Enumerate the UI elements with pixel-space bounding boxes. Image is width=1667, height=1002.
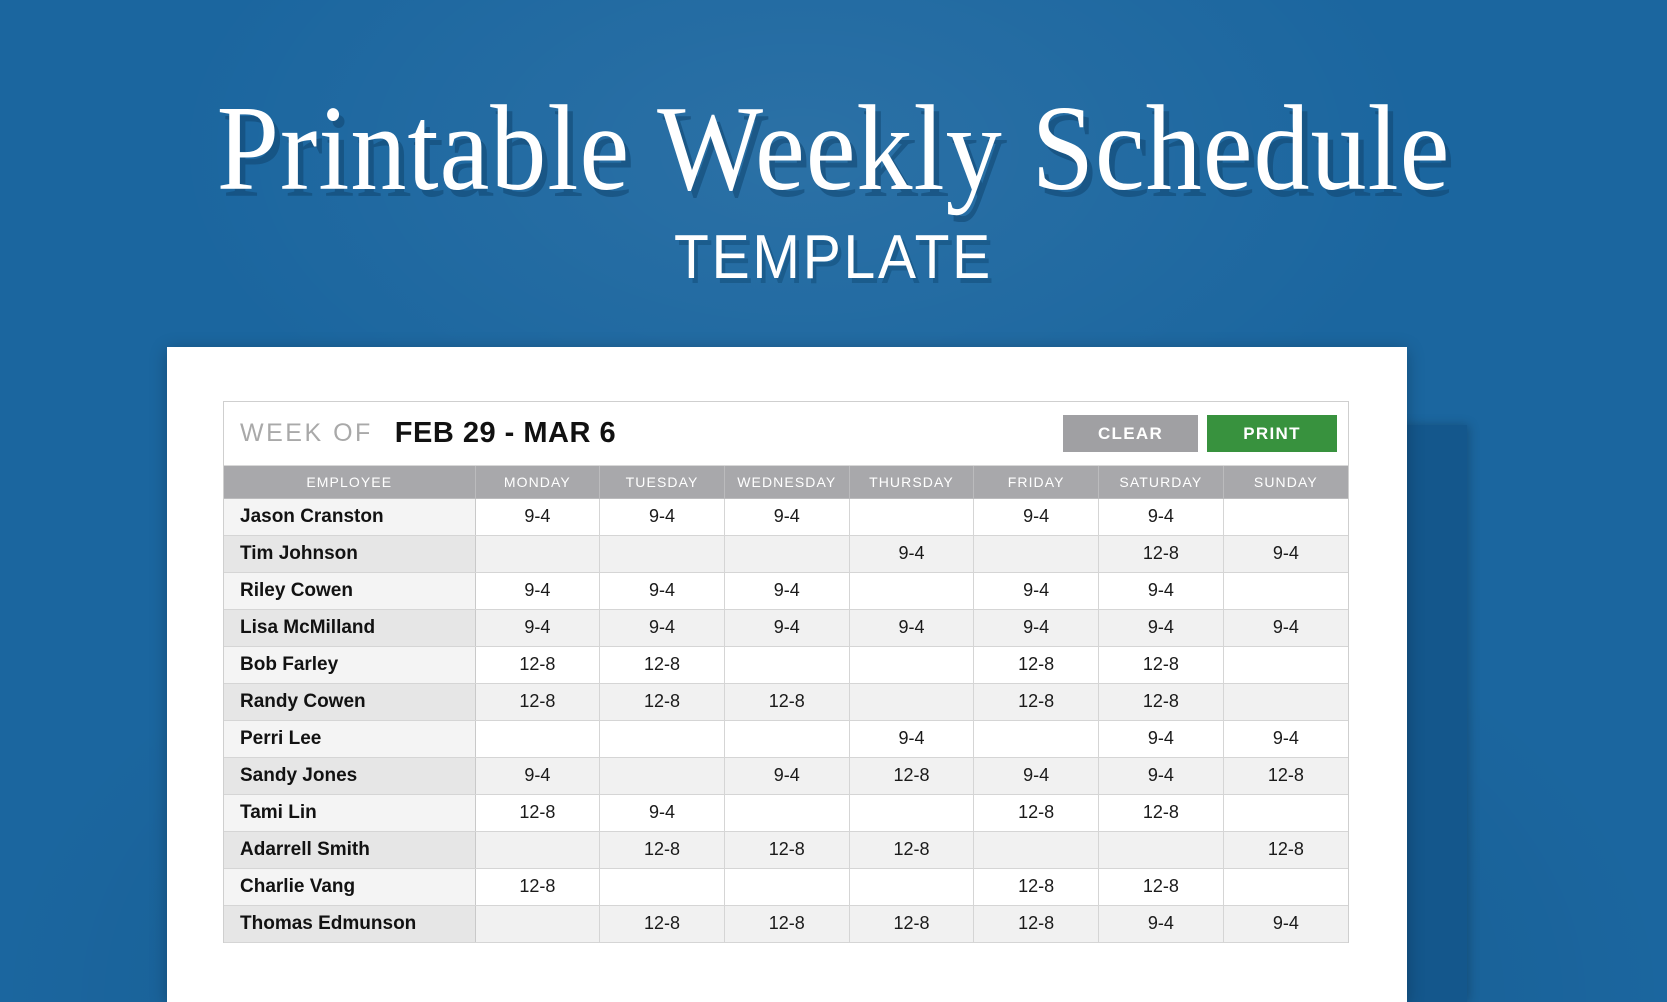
- employee-name-cell[interactable]: Tami Lin: [224, 794, 475, 831]
- shift-cell[interactable]: 9-4: [724, 757, 849, 794]
- shift-cell[interactable]: 9-4: [1223, 535, 1348, 572]
- shift-cell[interactable]: 9-4: [600, 572, 725, 609]
- shift-cell[interactable]: 12-8: [974, 905, 1099, 942]
- column-header-monday: MONDAY: [475, 466, 600, 498]
- shift-cell[interactable]: 12-8: [600, 905, 725, 942]
- employee-name-cell[interactable]: Randy Cowen: [224, 683, 475, 720]
- shift-cell[interactable]: 12-8: [724, 683, 849, 720]
- shift-cell[interactable]: [974, 831, 1099, 868]
- shift-cell[interactable]: 9-4: [1223, 720, 1348, 757]
- table-row: Thomas Edmunson12-812-812-812-89-49-4: [224, 905, 1348, 942]
- shift-cell[interactable]: [849, 646, 974, 683]
- table-row: Perri Lee9-49-49-4: [224, 720, 1348, 757]
- column-header-tuesday: TUESDAY: [600, 466, 725, 498]
- shift-cell[interactable]: 12-8: [974, 683, 1099, 720]
- shift-cell[interactable]: 9-4: [1099, 720, 1224, 757]
- shift-cell[interactable]: 12-8: [1099, 794, 1224, 831]
- shift-cell[interactable]: [475, 831, 600, 868]
- table-head: EMPLOYEEMONDAYTUESDAYWEDNESDAYTHURSDAYFR…: [224, 466, 1348, 498]
- shift-cell[interactable]: 12-8: [849, 905, 974, 942]
- column-header-friday: FRIDAY: [974, 466, 1099, 498]
- shift-cell[interactable]: [724, 535, 849, 572]
- employee-name-cell[interactable]: Adarrell Smith: [224, 831, 475, 868]
- shift-cell[interactable]: 9-4: [724, 572, 849, 609]
- shift-cell[interactable]: 9-4: [724, 609, 849, 646]
- employee-name-cell[interactable]: Charlie Vang: [224, 868, 475, 905]
- week-of-label: WEEK OF: [240, 419, 373, 448]
- column-header-sunday: SUNDAY: [1223, 466, 1348, 498]
- shift-cell[interactable]: 9-4: [974, 609, 1099, 646]
- shift-cell[interactable]: [849, 683, 974, 720]
- shift-cell[interactable]: 9-4: [1099, 609, 1224, 646]
- shift-cell[interactable]: 9-4: [1099, 905, 1224, 942]
- back-page-shadow-slab: [1397, 425, 1467, 1002]
- shift-cell[interactable]: [600, 720, 725, 757]
- table-row: Sandy Jones9-49-412-89-49-412-8: [224, 757, 1348, 794]
- shift-cell[interactable]: [475, 720, 600, 757]
- table-row: Bob Farley12-812-812-812-8: [224, 646, 1348, 683]
- shift-cell[interactable]: [974, 720, 1099, 757]
- shift-cell[interactable]: 9-4: [600, 498, 725, 535]
- column-header-thursday: THURSDAY: [849, 466, 974, 498]
- shift-cell[interactable]: 12-8: [1223, 831, 1348, 868]
- page-title: Printable Weekly Schedule: [67, 0, 1601, 210]
- shift-cell[interactable]: [1099, 831, 1224, 868]
- shift-cell[interactable]: 9-4: [475, 572, 600, 609]
- employee-name-cell[interactable]: Tim Johnson: [224, 535, 475, 572]
- employee-name-cell[interactable]: Riley Cowen: [224, 572, 475, 609]
- shift-cell[interactable]: [600, 868, 725, 905]
- print-button[interactable]: PRINT: [1207, 415, 1337, 452]
- shift-cell[interactable]: 9-4: [1223, 609, 1348, 646]
- employee-name-cell[interactable]: Thomas Edmunson: [224, 905, 475, 942]
- shift-cell[interactable]: 12-8: [1223, 757, 1348, 794]
- shift-cell[interactable]: 9-4: [600, 609, 725, 646]
- employee-name-cell[interactable]: Sandy Jones: [224, 757, 475, 794]
- paper-card: WEEK OF FEB 29 - MAR 6 CLEAR PRINT EMPLO…: [167, 347, 1407, 1002]
- employee-name-cell[interactable]: Bob Farley: [224, 646, 475, 683]
- table-row: Adarrell Smith12-812-812-812-8: [224, 831, 1348, 868]
- shift-cell[interactable]: 9-4: [849, 535, 974, 572]
- shift-cell[interactable]: 12-8: [974, 794, 1099, 831]
- table-row: Tim Johnson9-412-89-4: [224, 535, 1348, 572]
- shift-cell[interactable]: 9-4: [1099, 757, 1224, 794]
- table-row: Lisa McMilland9-49-49-49-49-49-49-4: [224, 609, 1348, 646]
- shift-cell[interactable]: [475, 535, 600, 572]
- shift-cell[interactable]: [1223, 572, 1348, 609]
- table-body: Jason Cranston9-49-49-49-49-4Tim Johnson…: [224, 498, 1348, 942]
- shift-cell[interactable]: 12-8: [974, 868, 1099, 905]
- table-row: Randy Cowen12-812-812-812-812-8: [224, 683, 1348, 720]
- shift-cell[interactable]: [1223, 498, 1348, 535]
- employee-name-cell[interactable]: Jason Cranston: [224, 498, 475, 535]
- shift-cell[interactable]: [724, 720, 849, 757]
- table-row: Jason Cranston9-49-49-49-49-4: [224, 498, 1348, 535]
- table-row: Tami Lin12-89-412-812-8: [224, 794, 1348, 831]
- shift-cell[interactable]: [1223, 868, 1348, 905]
- shift-cell[interactable]: 9-4: [475, 498, 600, 535]
- shift-cell[interactable]: 9-4: [974, 757, 1099, 794]
- shift-cell[interactable]: 12-8: [475, 868, 600, 905]
- schedule-toolbar: WEEK OF FEB 29 - MAR 6 CLEAR PRINT: [224, 402, 1348, 466]
- shift-cell[interactable]: 9-4: [974, 572, 1099, 609]
- column-header-employee: EMPLOYEE: [224, 466, 475, 498]
- shift-cell[interactable]: 12-8: [600, 683, 725, 720]
- shift-cell[interactable]: [849, 572, 974, 609]
- shift-cell[interactable]: [1223, 646, 1348, 683]
- page-header: Printable Weekly Schedule TEMPLATE: [0, 0, 1667, 347]
- employee-name-cell[interactable]: Lisa McMilland: [224, 609, 475, 646]
- shift-cell[interactable]: [849, 498, 974, 535]
- shift-cell[interactable]: [849, 794, 974, 831]
- employee-name-cell[interactable]: Perri Lee: [224, 720, 475, 757]
- shift-cell[interactable]: 12-8: [600, 646, 725, 683]
- shift-cell[interactable]: 12-8: [724, 905, 849, 942]
- shift-cell[interactable]: 9-4: [724, 498, 849, 535]
- shift-cell[interactable]: [475, 905, 600, 942]
- shift-cell[interactable]: 12-8: [849, 757, 974, 794]
- shift-cell[interactable]: 12-8: [1099, 868, 1224, 905]
- shift-cell[interactable]: 12-8: [1099, 646, 1224, 683]
- shift-cell[interactable]: 9-4: [1223, 905, 1348, 942]
- shift-cell[interactable]: [724, 868, 849, 905]
- shift-cell[interactable]: 9-4: [1099, 572, 1224, 609]
- shift-cell[interactable]: [600, 757, 725, 794]
- shift-cell[interactable]: [849, 868, 974, 905]
- shift-cell[interactable]: [1223, 683, 1348, 720]
- shift-cell[interactable]: 9-4: [475, 757, 600, 794]
- shift-cell[interactable]: 12-8: [600, 831, 725, 868]
- shift-cell[interactable]: 12-8: [724, 831, 849, 868]
- shift-cell[interactable]: [600, 535, 725, 572]
- clear-button[interactable]: CLEAR: [1063, 415, 1198, 452]
- shift-cell[interactable]: [1223, 794, 1348, 831]
- table-header-row: EMPLOYEEMONDAYTUESDAYWEDNESDAYTHURSDAYFR…: [224, 466, 1348, 498]
- shift-cell[interactable]: 12-8: [1099, 535, 1224, 572]
- shift-cell[interactable]: [724, 646, 849, 683]
- page-subtitle: TEMPLATE: [67, 222, 1601, 293]
- shift-cell[interactable]: 9-4: [600, 794, 725, 831]
- shift-cell[interactable]: 9-4: [1099, 498, 1224, 535]
- shift-cell[interactable]: 12-8: [475, 683, 600, 720]
- shift-cell[interactable]: 9-4: [849, 720, 974, 757]
- week-range-value[interactable]: FEB 29 - MAR 6: [395, 417, 616, 450]
- shift-cell[interactable]: 12-8: [974, 646, 1099, 683]
- column-header-wednesday: WEDNESDAY: [724, 466, 849, 498]
- shift-cell[interactable]: 12-8: [1099, 683, 1224, 720]
- shift-cell[interactable]: [974, 535, 1099, 572]
- shift-cell[interactable]: 12-8: [475, 646, 600, 683]
- shift-cell[interactable]: 9-4: [974, 498, 1099, 535]
- shift-cell[interactable]: 9-4: [849, 609, 974, 646]
- schedule-table: EMPLOYEEMONDAYTUESDAYWEDNESDAYTHURSDAYFR…: [224, 466, 1348, 943]
- table-row: Charlie Vang12-812-812-8: [224, 868, 1348, 905]
- table-row: Riley Cowen9-49-49-49-49-4: [224, 572, 1348, 609]
- column-header-saturday: SATURDAY: [1099, 466, 1224, 498]
- schedule-widget: WEEK OF FEB 29 - MAR 6 CLEAR PRINT EMPLO…: [223, 401, 1349, 943]
- shift-cell[interactable]: 12-8: [475, 794, 600, 831]
- shift-cell[interactable]: 9-4: [475, 609, 600, 646]
- shift-cell[interactable]: [724, 794, 849, 831]
- shift-cell[interactable]: 12-8: [849, 831, 974, 868]
